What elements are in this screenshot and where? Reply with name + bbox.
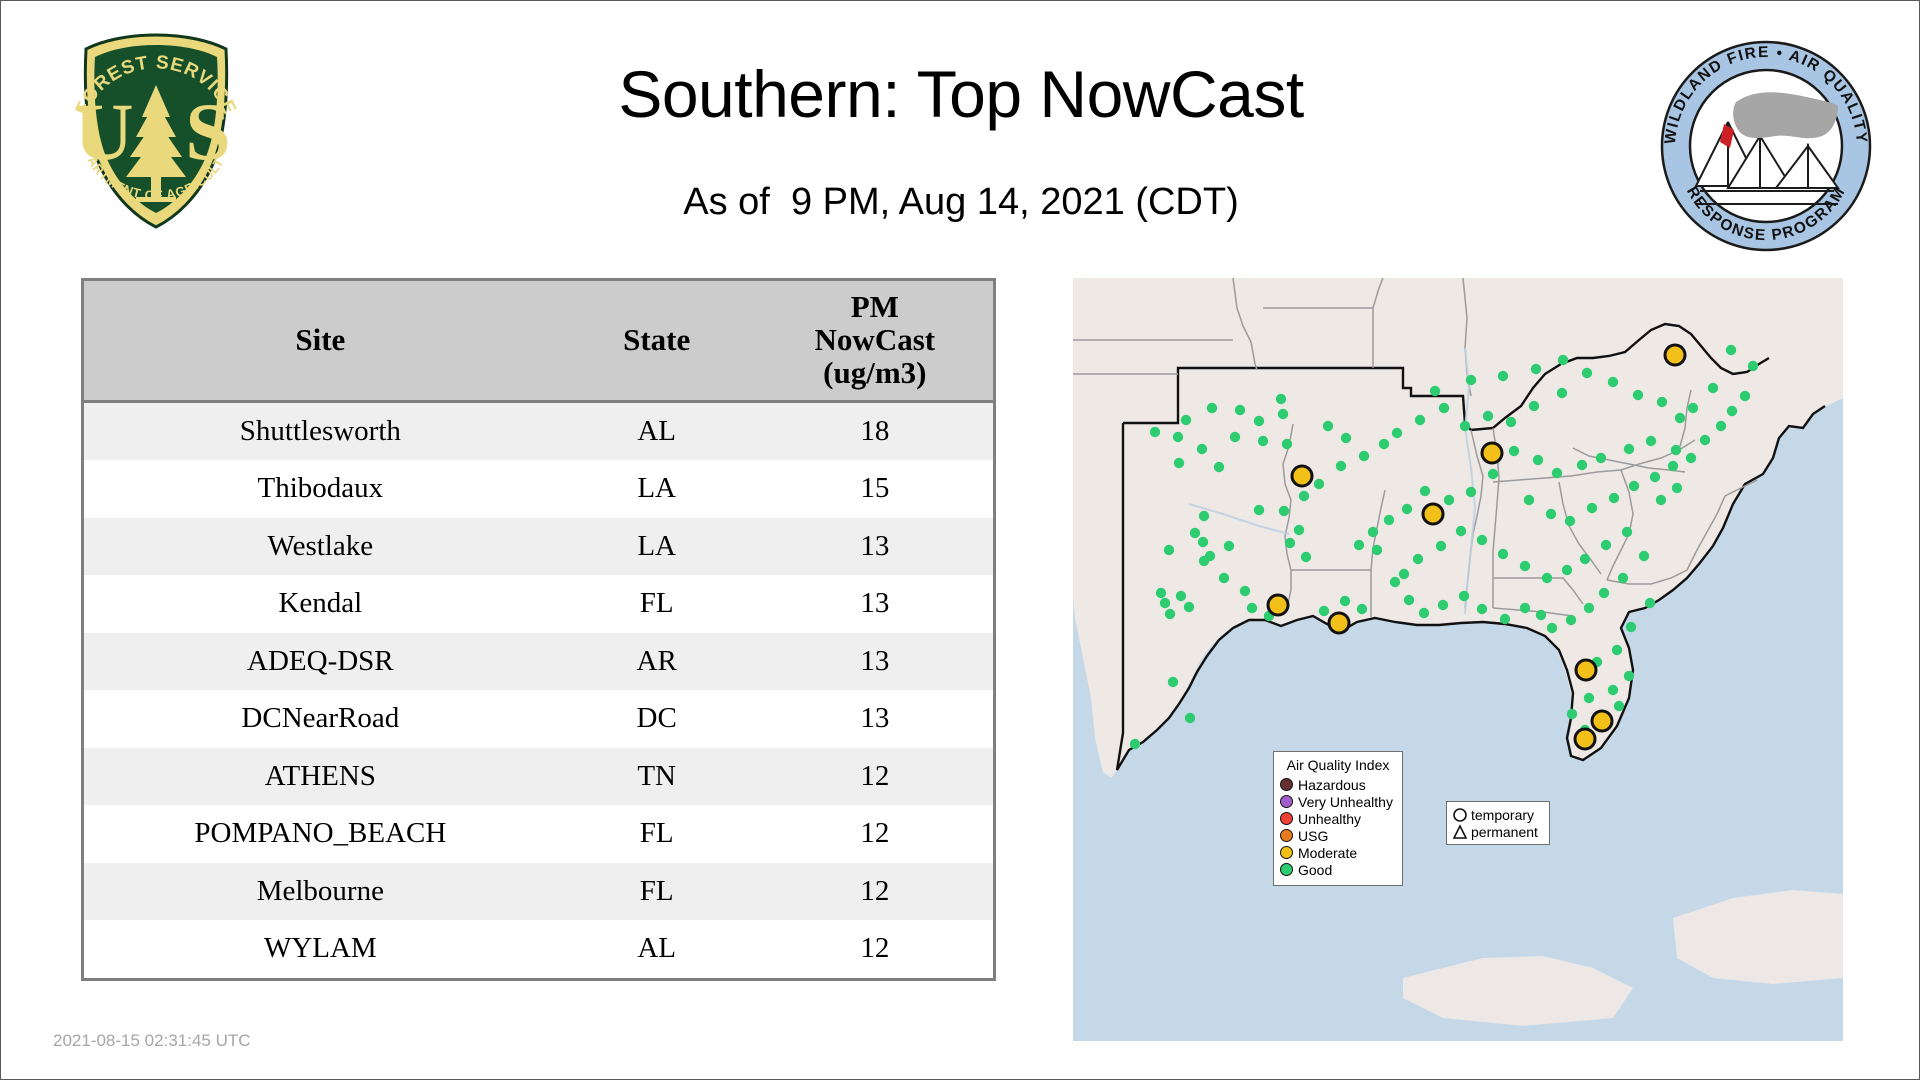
map-marker-good[interactable] xyxy=(1624,671,1634,681)
map-marker-good[interactable] xyxy=(1185,713,1195,723)
map-marker-good[interactable] xyxy=(1740,391,1750,401)
aqi-legend-rows: HazardousVery UnhealthyUnhealthyUSGModer… xyxy=(1280,776,1396,878)
map-marker-good[interactable] xyxy=(1294,525,1304,535)
map-marker-good[interactable] xyxy=(1466,487,1476,497)
legend-label-permanent: permanent xyxy=(1471,825,1538,839)
map-marker-good[interactable] xyxy=(1379,439,1389,449)
map-marker-moderate[interactable] xyxy=(1482,443,1502,463)
map-marker-good[interactable] xyxy=(1624,444,1634,454)
map-marker-good[interactable] xyxy=(1708,383,1718,393)
map-marker-good[interactable] xyxy=(1165,609,1175,619)
cell-pm-nowcast: 13 xyxy=(757,690,993,748)
cell-site: Kendal xyxy=(84,575,557,633)
table-row[interactable]: ShuttlesworthAL18 xyxy=(84,401,993,460)
map-marker-good[interactable] xyxy=(1199,511,1209,521)
cell-state: FL xyxy=(557,805,757,863)
aqi-legend-swatch-icon xyxy=(1280,778,1293,791)
map-marker-good[interactable] xyxy=(1587,503,1597,513)
aqi-legend-row: Unhealthy xyxy=(1280,810,1396,827)
map-marker-good[interactable] xyxy=(1477,604,1487,614)
slide-page: FOREST SERVICE U S DEPARTMENT OF AGRICUL… xyxy=(0,0,1920,1080)
cell-state: TN xyxy=(557,748,757,806)
map-marker-moderate[interactable] xyxy=(1665,345,1685,365)
map-marker-good[interactable] xyxy=(1197,444,1207,454)
map-marker-good[interactable] xyxy=(1341,433,1351,443)
map-marker-good[interactable] xyxy=(1176,591,1186,601)
map-marker-moderate[interactable] xyxy=(1592,711,1612,731)
table-row[interactable]: ATHENSTN12 xyxy=(84,748,993,806)
map-marker-good[interactable] xyxy=(1254,505,1264,515)
map-marker-good[interactable] xyxy=(1184,602,1194,612)
map-marker-good[interactable] xyxy=(1609,493,1619,503)
page-subtitle: As of 9 PM, Aug 14, 2021 (CDT) xyxy=(301,181,1621,224)
map-marker-moderate[interactable] xyxy=(1292,466,1312,486)
map-marker-good[interactable] xyxy=(1533,455,1543,465)
map-marker-good[interactable] xyxy=(1420,486,1430,496)
map-marker-good[interactable] xyxy=(1520,561,1530,571)
map-marker-good[interactable] xyxy=(1646,436,1656,446)
cell-site: DCNearRoad xyxy=(84,690,557,748)
map-marker-good[interactable] xyxy=(1224,541,1234,551)
table-row[interactable]: WestlakeLA13 xyxy=(84,518,993,576)
map-marker-good[interactable] xyxy=(1608,377,1618,387)
map-marker-good[interactable] xyxy=(1299,491,1309,501)
map-marker-good[interactable] xyxy=(1498,549,1508,559)
map-marker-good[interactable] xyxy=(1319,606,1329,616)
map-marker-good[interactable] xyxy=(1340,596,1350,606)
map-marker-good[interactable] xyxy=(1520,603,1530,613)
cell-pm-nowcast: 13 xyxy=(757,633,993,691)
map-marker-good[interactable] xyxy=(1500,614,1510,624)
cell-site: Thibodaux xyxy=(84,460,557,518)
map-marker-good[interactable] xyxy=(1415,415,1425,425)
map-marker-good[interactable] xyxy=(1675,413,1685,423)
aqi-legend-row: Hazardous xyxy=(1280,776,1396,793)
table-header-row: Site State PM NowCast (ug/m3) xyxy=(84,281,993,401)
aqi-legend-label: Moderate xyxy=(1298,846,1357,860)
aqi-legend: Air Quality Index HazardousVery Unhealth… xyxy=(1273,751,1403,886)
map-marker-good[interactable] xyxy=(1438,600,1448,610)
map-marker-good[interactable] xyxy=(1672,483,1682,493)
map-marker-good[interactable] xyxy=(1198,537,1208,547)
map-marker-good[interactable] xyxy=(1584,603,1594,613)
permanent-triangle-icon xyxy=(1452,824,1468,840)
map-marker-good[interactable] xyxy=(1419,608,1429,618)
map-marker-good[interactable] xyxy=(1190,528,1200,538)
map-marker-good[interactable] xyxy=(1498,371,1508,381)
legend-label-temporary: temporary xyxy=(1471,808,1534,822)
map-marker-good[interactable] xyxy=(1622,527,1632,537)
map-marker-good[interactable] xyxy=(1156,588,1166,598)
map-marker-good[interactable] xyxy=(1430,386,1440,396)
map-marker-good[interactable] xyxy=(1301,552,1311,562)
map-marker-good[interactable] xyxy=(1460,421,1470,431)
map-marker-good[interactable] xyxy=(1668,461,1678,471)
aqi-legend-swatch-icon xyxy=(1280,812,1293,825)
cell-state: AL xyxy=(557,920,757,978)
table-row[interactable]: ADEQ-DSRAR13 xyxy=(84,633,993,691)
map-marker-good[interactable] xyxy=(1276,394,1286,404)
map-marker-good[interactable] xyxy=(1372,545,1382,555)
table-header: Site State PM NowCast (ug/m3) xyxy=(84,281,993,401)
legend-row-temporary: temporary xyxy=(1452,806,1544,823)
map-marker-good[interactable] xyxy=(1524,495,1534,505)
cell-pm-nowcast: 18 xyxy=(757,401,993,460)
map-marker-good[interactable] xyxy=(1546,509,1556,519)
cell-state: LA xyxy=(557,518,757,576)
map-marker-good[interactable] xyxy=(1582,368,1592,378)
map-marker-good[interactable] xyxy=(1336,461,1346,471)
map-marker-good[interactable] xyxy=(1536,610,1546,620)
legend-row-permanent: permanent xyxy=(1452,823,1544,840)
cell-pm-nowcast: 12 xyxy=(757,920,993,978)
map-marker-good[interactable] xyxy=(1323,421,1333,431)
map-marker-good[interactable] xyxy=(1219,573,1229,583)
table-row[interactable]: DCNearRoadDC13 xyxy=(84,690,993,748)
map-marker-good[interactable] xyxy=(1254,416,1264,426)
map-marker-good[interactable] xyxy=(1164,545,1174,555)
map-marker-good[interactable] xyxy=(1359,451,1369,461)
cell-state: AR xyxy=(557,633,757,691)
map-marker-good[interactable] xyxy=(1404,595,1414,605)
cell-pm-nowcast: 12 xyxy=(757,748,993,806)
map-marker-good[interactable] xyxy=(1599,588,1609,598)
cell-site: Westlake xyxy=(84,518,557,576)
map-marker-good[interactable] xyxy=(1285,538,1295,548)
cell-state: DC xyxy=(557,690,757,748)
map-marker-good[interactable] xyxy=(1557,388,1567,398)
cell-state: FL xyxy=(557,863,757,921)
map-marker-good[interactable] xyxy=(1566,615,1576,625)
aqi-legend-label: Good xyxy=(1298,863,1332,877)
column-header-state[interactable]: State xyxy=(557,281,757,401)
aqi-legend-label: Very Unhealthy xyxy=(1298,795,1393,809)
map-marker-good[interactable] xyxy=(1618,573,1628,583)
map-marker-good[interactable] xyxy=(1258,436,1268,446)
map-marker-good[interactable] xyxy=(1314,479,1324,489)
footer-timestamp: 2021-08-15 02:31:45 UTC xyxy=(53,1031,251,1051)
map-marker-good[interactable] xyxy=(1413,554,1423,564)
map-marker-good[interactable] xyxy=(1199,556,1209,566)
column-header-pm-line3: (ug/m3) xyxy=(761,357,989,390)
map-marker-good[interactable] xyxy=(1688,403,1698,413)
map-marker-good[interactable] xyxy=(1181,415,1191,425)
map-marker-good[interactable] xyxy=(1629,481,1639,491)
aqi-legend-row: USG xyxy=(1280,827,1396,844)
cell-pm-nowcast: 12 xyxy=(757,805,993,863)
table-body: ShuttlesworthAL18ThibodauxLA15WestlakeLA… xyxy=(84,401,993,978)
column-header-pm-line1: PM xyxy=(761,291,989,324)
cell-site: WYLAM xyxy=(84,920,557,978)
fs-logo-letter-u: U xyxy=(74,86,133,177)
cell-state: FL xyxy=(557,575,757,633)
map-canvas xyxy=(1073,278,1843,1041)
map-marker-good[interactable] xyxy=(1657,397,1667,407)
map-marker-good[interactable] xyxy=(1726,345,1736,355)
cell-pm-nowcast: 15 xyxy=(757,460,993,518)
nowcast-table-container: Site State PM NowCast (ug/m3) Shuttleswo… xyxy=(81,278,996,981)
map-marker-good[interactable] xyxy=(1562,565,1572,575)
map-marker-good[interactable] xyxy=(1656,495,1666,505)
map-marker-good[interactable] xyxy=(1399,569,1409,579)
map-marker-good[interactable] xyxy=(1130,739,1140,749)
cell-site: Shuttlesworth xyxy=(84,401,557,460)
cell-pm-nowcast: 13 xyxy=(757,518,993,576)
map-marker-good[interactable] xyxy=(1459,591,1469,601)
cell-pm-nowcast: 12 xyxy=(757,863,993,921)
map-marker-good[interactable] xyxy=(1577,460,1587,470)
map-marker-good[interactable] xyxy=(1748,361,1758,371)
cell-state: AL xyxy=(557,401,757,460)
map-marker-moderate[interactable] xyxy=(1268,595,1288,615)
map-marker-good[interactable] xyxy=(1614,701,1624,711)
aqi-legend-swatch-icon xyxy=(1280,795,1293,808)
map-marker-good[interactable] xyxy=(1567,709,1577,719)
cell-site: ADEQ-DSR xyxy=(84,633,557,691)
map-marker-good[interactable] xyxy=(1247,603,1257,613)
cell-site: POMPANO_BEACH xyxy=(84,805,557,863)
cell-site: Melbourne xyxy=(84,863,557,921)
map-marker-good[interactable] xyxy=(1612,645,1622,655)
map-marker-good[interactable] xyxy=(1168,677,1178,687)
map-marker-good[interactable] xyxy=(1645,598,1655,608)
air-quality-map[interactable] xyxy=(1073,278,1843,1041)
map-marker-good[interactable] xyxy=(1596,453,1606,463)
map-marker-good[interactable] xyxy=(1584,693,1594,703)
aqi-legend-swatch-icon xyxy=(1280,863,1293,876)
table-row[interactable]: WYLAMAL12 xyxy=(84,920,993,978)
aqi-legend-row: Very Unhealthy xyxy=(1280,793,1396,810)
map-marker-good[interactable] xyxy=(1368,527,1378,537)
map-marker-good[interactable] xyxy=(1174,458,1184,468)
aqi-legend-title: Air Quality Index xyxy=(1280,757,1396,773)
forest-service-logo: FOREST SERVICE U S DEPARTMENT OF AGRICUL… xyxy=(56,31,256,231)
map-marker-good[interactable] xyxy=(1173,432,1183,442)
aqi-legend-row: Good xyxy=(1280,861,1396,878)
map-marker-good[interactable] xyxy=(1650,472,1660,482)
map-marker-good[interactable] xyxy=(1633,390,1643,400)
map-marker-good[interactable] xyxy=(1547,623,1557,633)
map-marker-good[interactable] xyxy=(1608,685,1618,695)
map-marker-good[interactable] xyxy=(1716,421,1726,431)
column-header-pm-line2: NowCast xyxy=(761,324,989,357)
map-marker-good[interactable] xyxy=(1160,598,1170,608)
nowcast-table: Site State PM NowCast (ug/m3) Shuttleswo… xyxy=(84,281,993,978)
map-marker-good[interactable] xyxy=(1402,504,1412,514)
table-row[interactable]: POMPANO_BEACHFL12 xyxy=(84,805,993,863)
map-marker-good[interactable] xyxy=(1214,462,1224,472)
map-marker-good[interactable] xyxy=(1727,406,1737,416)
map-marker-good[interactable] xyxy=(1477,535,1487,545)
map-marker-good[interactable] xyxy=(1531,364,1541,374)
map-marker-good[interactable] xyxy=(1207,403,1217,413)
map-marker-good[interactable] xyxy=(1671,445,1681,455)
map-marker-good[interactable] xyxy=(1279,506,1289,516)
map-marker-moderate[interactable] xyxy=(1329,613,1349,633)
map-marker-good[interactable] xyxy=(1542,573,1552,583)
map-marker-good[interactable] xyxy=(1626,622,1636,632)
map-marker-moderate[interactable] xyxy=(1575,729,1595,749)
station-type-legend: temporary permanent xyxy=(1446,801,1550,845)
aqi-legend-label: Unhealthy xyxy=(1298,812,1361,826)
column-header-pm-nowcast[interactable]: PM NowCast (ug/m3) xyxy=(757,281,993,401)
cell-pm-nowcast: 13 xyxy=(757,575,993,633)
page-title: Southern: Top NowCast xyxy=(301,56,1621,132)
map-marker-good[interactable] xyxy=(1552,468,1562,478)
map-marker-good[interactable] xyxy=(1282,439,1292,449)
map-marker-good[interactable] xyxy=(1150,427,1160,437)
map-marker-good[interactable] xyxy=(1580,554,1590,564)
table-row[interactable]: ThibodauxLA15 xyxy=(84,460,993,518)
aqi-legend-label: USG xyxy=(1298,829,1328,843)
map-marker-good[interactable] xyxy=(1240,586,1250,596)
aqi-legend-swatch-icon xyxy=(1280,846,1293,859)
map-marker-good[interactable] xyxy=(1384,515,1394,525)
map-marker-good[interactable] xyxy=(1529,401,1539,411)
map-marker-good[interactable] xyxy=(1436,541,1446,551)
map-marker-good[interactable] xyxy=(1466,375,1476,385)
aqi-legend-label: Hazardous xyxy=(1298,778,1366,792)
map-marker-good[interactable] xyxy=(1565,516,1575,526)
map-marker-good[interactable] xyxy=(1230,432,1240,442)
map-marker-moderate[interactable] xyxy=(1423,504,1443,524)
map-marker-good[interactable] xyxy=(1456,526,1466,536)
table-row[interactable]: MelbourneFL12 xyxy=(84,863,993,921)
map-marker-good[interactable] xyxy=(1235,405,1245,415)
aqi-legend-swatch-icon xyxy=(1280,829,1293,842)
map-marker-good[interactable] xyxy=(1357,604,1367,614)
map-marker-good[interactable] xyxy=(1601,540,1611,550)
cell-site: ATHENS xyxy=(84,748,557,806)
map-marker-good[interactable] xyxy=(1439,403,1449,413)
map-marker-good[interactable] xyxy=(1444,495,1454,505)
map-marker-good[interactable] xyxy=(1392,428,1402,438)
table-row[interactable]: KendalFL13 xyxy=(84,575,993,633)
map-marker-good[interactable] xyxy=(1506,417,1516,427)
map-marker-good[interactable] xyxy=(1639,551,1649,561)
map-marker-good[interactable] xyxy=(1700,435,1710,445)
map-marker-good[interactable] xyxy=(1390,577,1400,587)
map-marker-good[interactable] xyxy=(1558,355,1568,365)
map-marker-good[interactable] xyxy=(1354,540,1364,550)
wfaqrp-badge: WILDLAND FIRE • AIR QUALITY RESPONSE PRO… xyxy=(1656,36,1876,256)
map-marker-good[interactable] xyxy=(1509,446,1519,456)
map-marker-moderate[interactable] xyxy=(1576,660,1596,680)
temporary-circle-icon xyxy=(1452,807,1468,823)
column-header-site[interactable]: Site xyxy=(84,281,557,401)
map-marker-good[interactable] xyxy=(1488,469,1498,479)
cell-state: LA xyxy=(557,460,757,518)
aqi-legend-row: Moderate xyxy=(1280,844,1396,861)
map-marker-good[interactable] xyxy=(1278,409,1288,419)
map-marker-good[interactable] xyxy=(1483,411,1493,421)
map-marker-good[interactable] xyxy=(1686,453,1696,463)
